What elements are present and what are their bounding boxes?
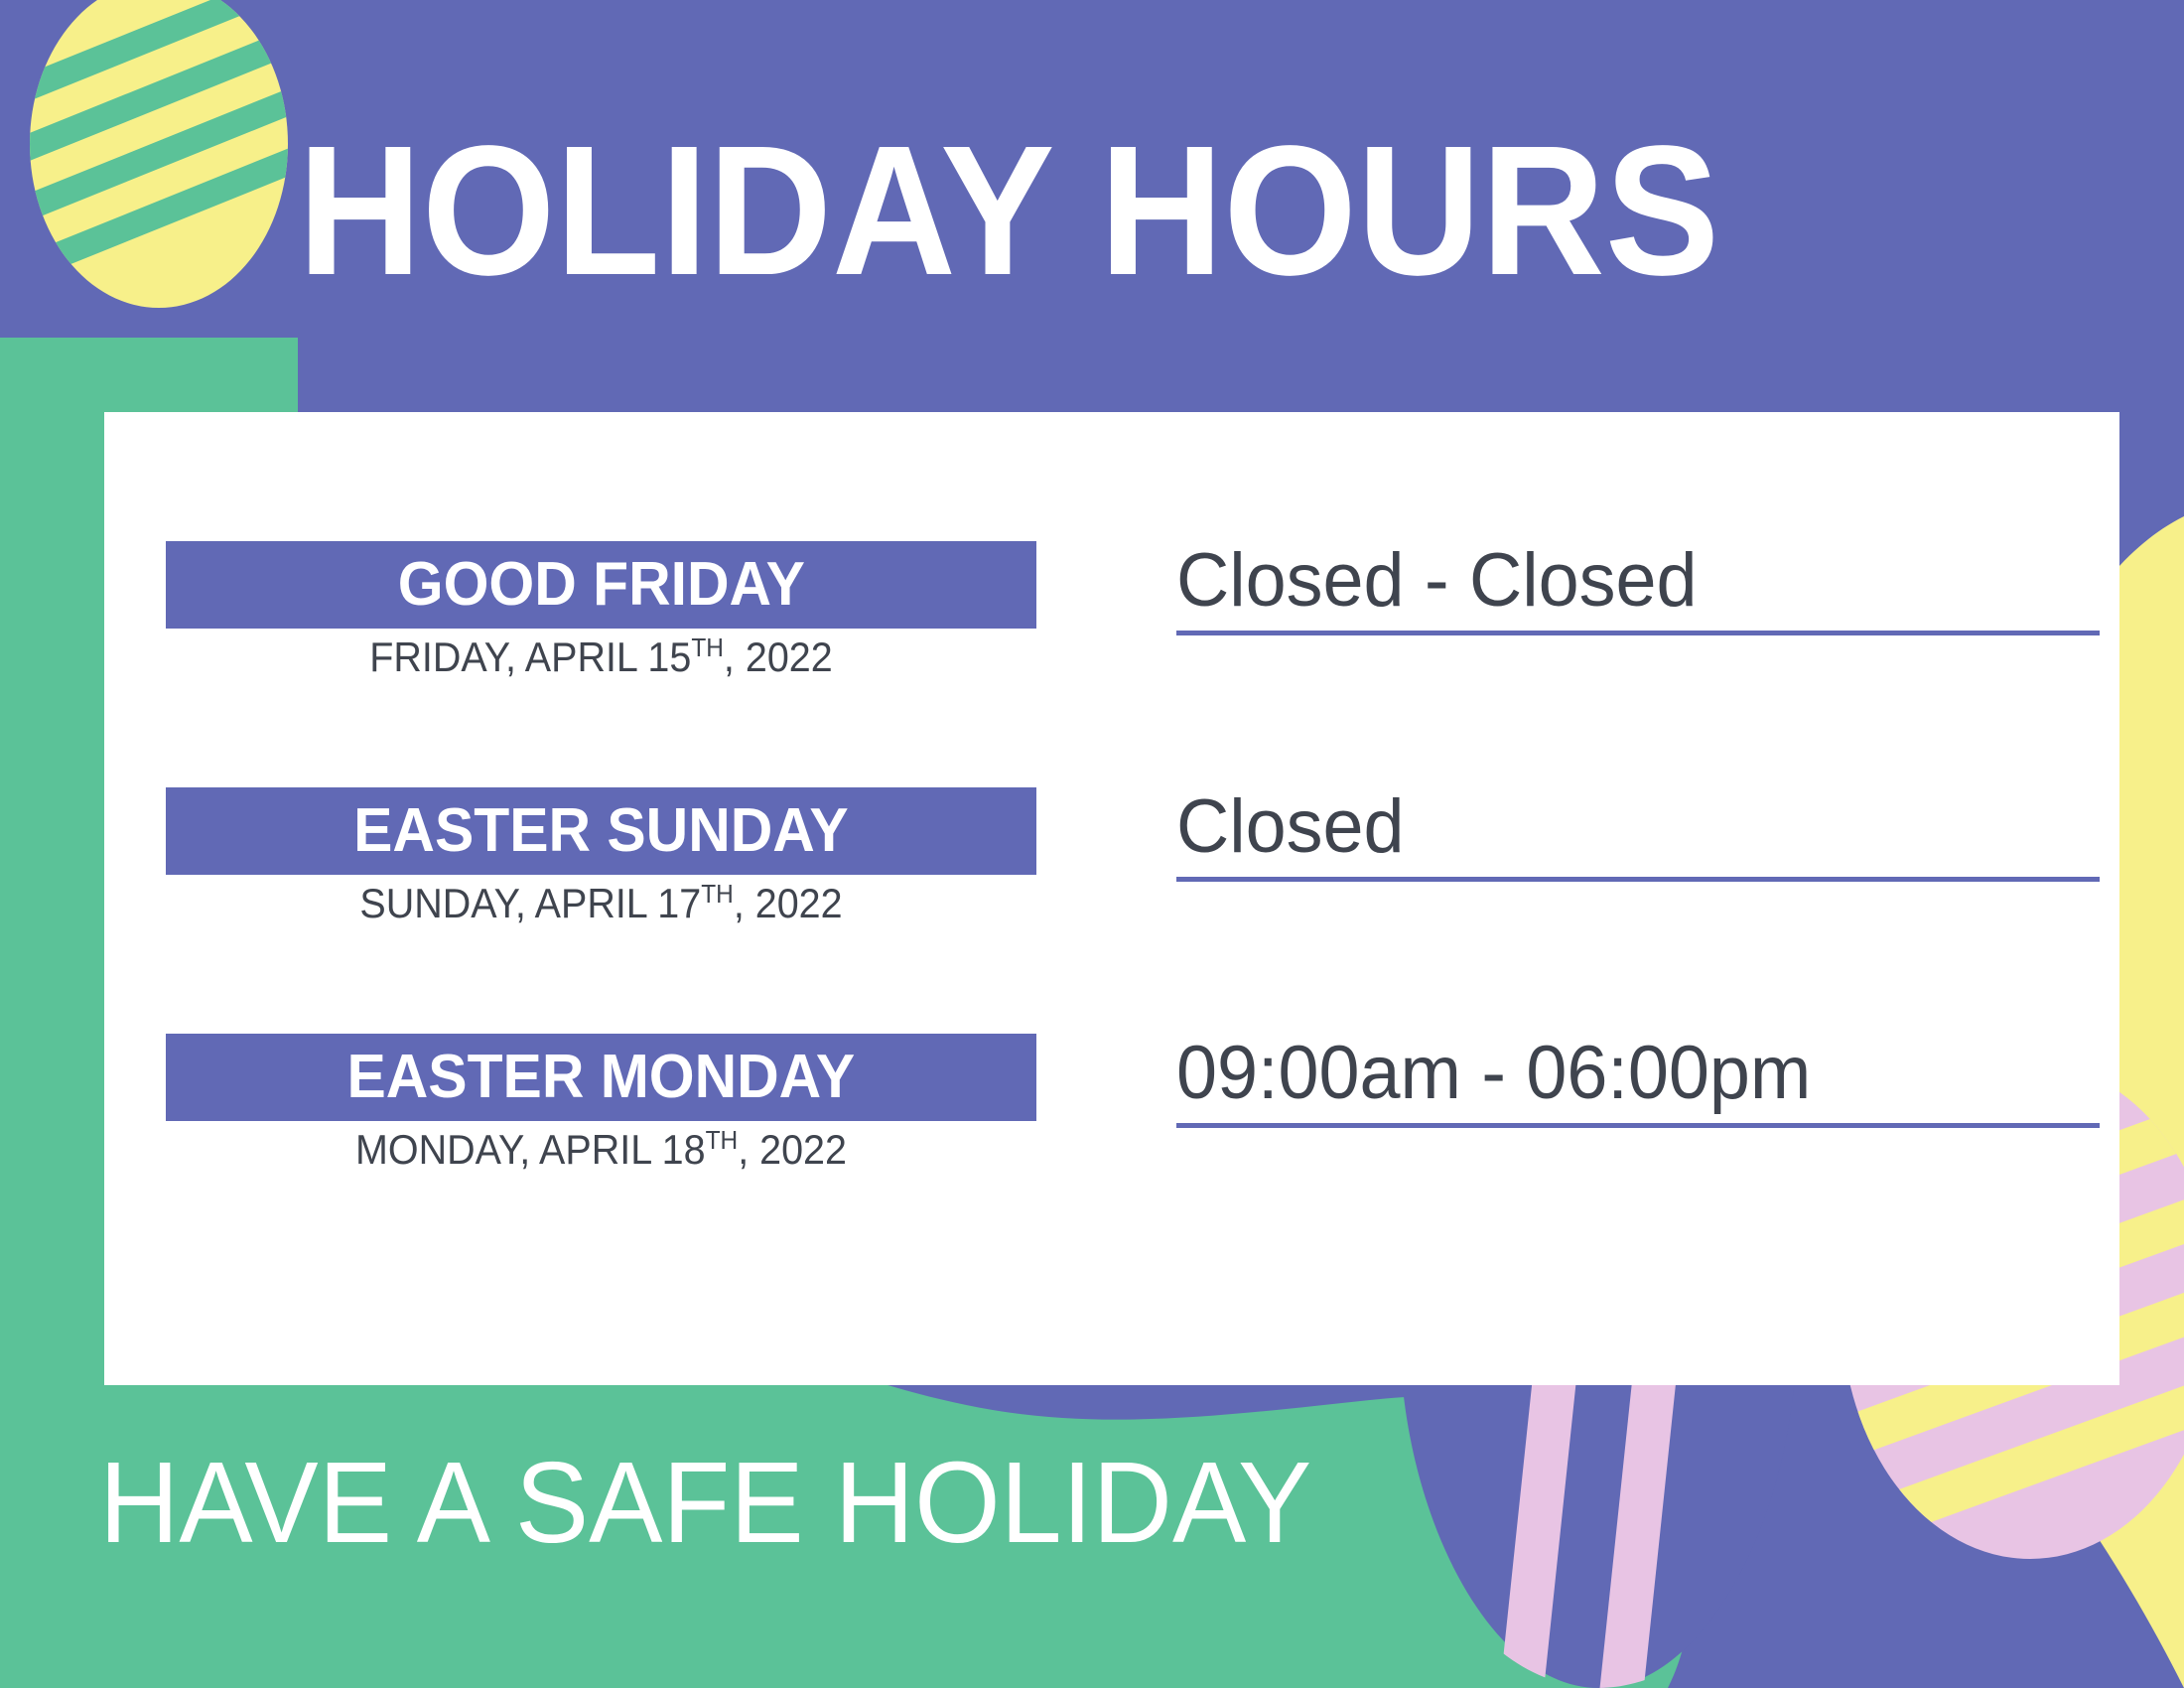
holiday-hours-value: Closed <box>1176 789 1404 865</box>
holiday-hours-cell: Closed - Closed <box>1176 531 2100 635</box>
holiday-name-bar: GOOD FRIDAY <box>166 541 1036 629</box>
holiday-hours-value: 09:00am - 06:00pm <box>1176 1036 1811 1111</box>
holiday-date-label: MONDAY, APRIL 18TH, 2022 <box>192 1129 1010 1171</box>
holiday-hours-poster: HOLIDAY HOURS GOOD FRIDAY FRIDAY, APRIL … <box>0 0 2184 1688</box>
holiday-date-prefix: MONDAY, APRIL 18 <box>355 1126 706 1173</box>
holiday-date-prefix: SUNDAY, APRIL 17 <box>359 880 701 926</box>
holiday-date-label: FRIDAY, APRIL 15TH, 2022 <box>192 636 1010 678</box>
holiday-name-label: EASTER SUNDAY <box>353 800 849 862</box>
holiday-date-year: , 2022 <box>724 633 833 680</box>
holiday-date-prefix: FRIDAY, APRIL 15 <box>369 633 691 680</box>
holiday-date-ordinal: TH <box>701 879 734 909</box>
holiday-hours-cell: Closed <box>1176 777 2100 882</box>
holiday-date-ordinal: TH <box>706 1125 739 1155</box>
holiday-name-label: EASTER MONDAY <box>347 1047 856 1108</box>
footer-message: HAVE A SAFE HOLIDAY <box>99 1445 1311 1560</box>
holiday-hours-cell: 09:00am - 06:00pm <box>1176 1024 2100 1128</box>
page-title: HOLIDAY HOURS <box>298 119 1923 304</box>
holiday-date-year: , 2022 <box>734 880 843 926</box>
holiday-name-bar: EASTER SUNDAY <box>166 787 1036 875</box>
holiday-date-label: SUNDAY, APRIL 17TH, 2022 <box>192 883 1010 924</box>
holiday-date-year: , 2022 <box>738 1126 847 1173</box>
hours-card: GOOD FRIDAY FRIDAY, APRIL 15TH, 2022 Clo… <box>104 412 2119 1385</box>
holiday-name-bar: EASTER MONDAY <box>166 1034 1036 1121</box>
holiday-date-ordinal: TH <box>691 633 724 662</box>
holiday-hours-value: Closed - Closed <box>1176 543 1697 619</box>
holiday-name-label: GOOD FRIDAY <box>397 554 804 616</box>
